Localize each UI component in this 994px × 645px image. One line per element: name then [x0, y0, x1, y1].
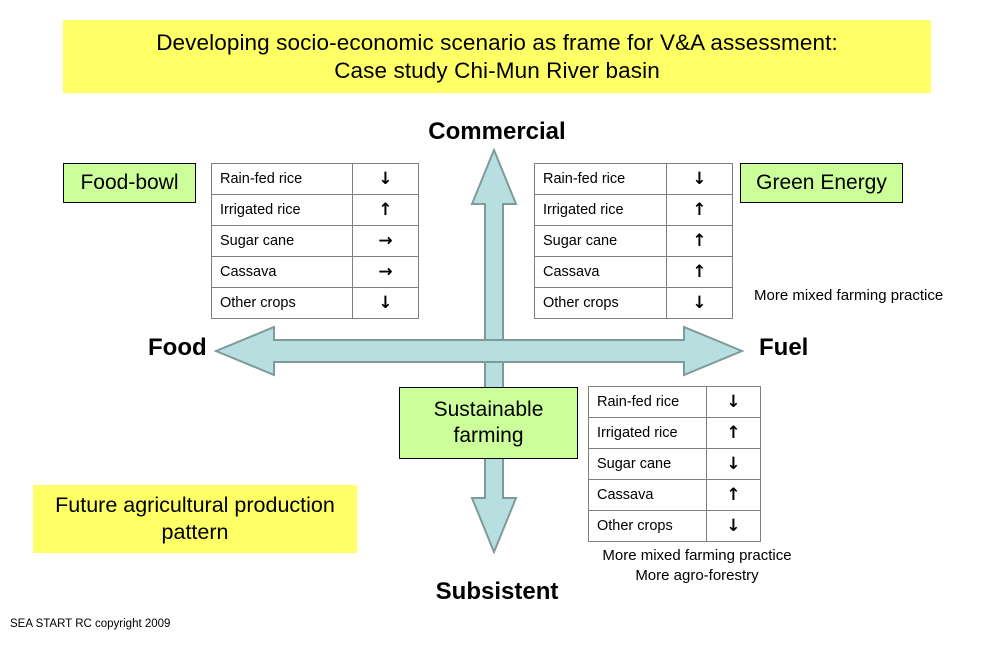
crop-name-cell: Cassava	[589, 480, 707, 511]
arrow-down-icon: ↓	[707, 449, 761, 480]
sustainable-line-1: Sustainable	[434, 398, 544, 421]
title-banner: Developing socio-economic scenario as fr…	[63, 20, 931, 93]
table-row: Cassava ↑	[535, 257, 733, 288]
callout-sustainable-farming: Sustainable farming	[399, 387, 578, 459]
sustainable-line-2: farming	[453, 424, 523, 447]
arrow-down-icon: ↓	[707, 511, 761, 542]
arrow-down-icon: ↓	[353, 288, 419, 319]
table-row: Rain-fed rice ↓	[535, 164, 733, 195]
axis-label-commercial: Commercial	[0, 118, 994, 146]
slide-canvas: Developing socio-economic scenario as fr…	[0, 0, 994, 645]
axis-label-fuel: Fuel	[759, 334, 808, 362]
double-headed-horizontal-arrow	[214, 322, 744, 380]
callout-future-production-pattern: Future agricultural production pattern	[33, 485, 357, 553]
crop-name-cell: Rain-fed rice	[589, 387, 707, 418]
crop-name-cell: Sugar cane	[535, 226, 667, 257]
crop-name-cell: Rain-fed rice	[535, 164, 667, 195]
arrow-up-icon: ↑	[707, 418, 761, 449]
table-row: Other crops ↓	[589, 511, 761, 542]
axis-label-food: Food	[148, 334, 207, 362]
table-row: Irrigated rice ↑	[212, 195, 419, 226]
table-row: Other crops ↓	[212, 288, 419, 319]
crop-name-cell: Rain-fed rice	[212, 164, 353, 195]
note-bottom-line-2: More agro-forestry	[588, 566, 806, 586]
title-line-1: Developing socio-economic scenario as fr…	[156, 29, 838, 56]
note-top-right: More mixed farming practice	[754, 286, 943, 306]
arrow-down-icon: ↓	[353, 164, 419, 195]
table-row: Rain-fed rice ↓	[212, 164, 419, 195]
table-row: Sugar cane →	[212, 226, 419, 257]
note-bottom-right: More mixed farming practice More agro-fo…	[588, 546, 806, 587]
arrow-up-icon: ↑	[353, 195, 419, 226]
crop-name-cell: Cassava	[212, 257, 353, 288]
table-row: Other crops ↓	[535, 288, 733, 319]
crop-trend-table-top-left: Rain-fed rice ↓ Irrigated rice ↑ Sugar c…	[211, 163, 419, 319]
crop-name-cell: Other crops	[212, 288, 353, 319]
note-bottom-line-1: More mixed farming practice	[588, 546, 806, 566]
arrow-right-icon: →	[353, 226, 419, 257]
axis-label-subsistent: Subsistent	[0, 578, 994, 606]
crop-name-cell: Sugar cane	[589, 449, 707, 480]
arrow-up-icon: ↑	[707, 480, 761, 511]
callout-food-bowl-label: Food-bowl	[80, 171, 178, 195]
arrow-right-icon: →	[353, 257, 419, 288]
arrow-up-icon: ↑	[667, 257, 733, 288]
crop-trend-table-top-right: Rain-fed rice ↓ Irrigated rice ↑ Sugar c…	[534, 163, 733, 319]
arrow-down-icon: ↓	[667, 288, 733, 319]
table-row: Cassava →	[212, 257, 419, 288]
crop-name-cell: Other crops	[589, 511, 707, 542]
callout-future-text: Future agricultural production pattern	[33, 492, 357, 546]
table-row: Rain-fed rice ↓	[589, 387, 761, 418]
crop-name-cell: Irrigated rice	[535, 195, 667, 226]
callout-green-energy: Green Energy	[740, 163, 903, 203]
crop-name-cell: Irrigated rice	[589, 418, 707, 449]
table-row: Sugar cane ↓	[589, 449, 761, 480]
table-row: Irrigated rice ↑	[589, 418, 761, 449]
arrow-up-icon: ↑	[667, 195, 733, 226]
crop-name-cell: Sugar cane	[212, 226, 353, 257]
crop-name-cell: Other crops	[535, 288, 667, 319]
crop-name-cell: Cassava	[535, 257, 667, 288]
callout-green-energy-label: Green Energy	[756, 171, 887, 195]
table-row: Sugar cane ↑	[535, 226, 733, 257]
arrow-down-icon: ↓	[707, 387, 761, 418]
arrow-down-icon: ↓	[667, 164, 733, 195]
callout-sustainable-farming-text: Sustainable farming	[400, 397, 577, 448]
callout-food-bowl: Food-bowl	[63, 163, 196, 203]
arrow-up-icon: ↑	[667, 226, 733, 257]
footer-copyright: SEA START RC copyright 2009	[10, 618, 170, 630]
crop-trend-table-bottom-right: Rain-fed rice ↓ Irrigated rice ↑ Sugar c…	[588, 386, 761, 542]
table-row: Irrigated rice ↑	[535, 195, 733, 226]
title-line-2: Case study Chi-Mun River basin	[334, 57, 660, 84]
future-line-1: Future agricultural	[55, 493, 228, 517]
table-row: Cassava ↑	[589, 480, 761, 511]
crop-name-cell: Irrigated rice	[212, 195, 353, 226]
